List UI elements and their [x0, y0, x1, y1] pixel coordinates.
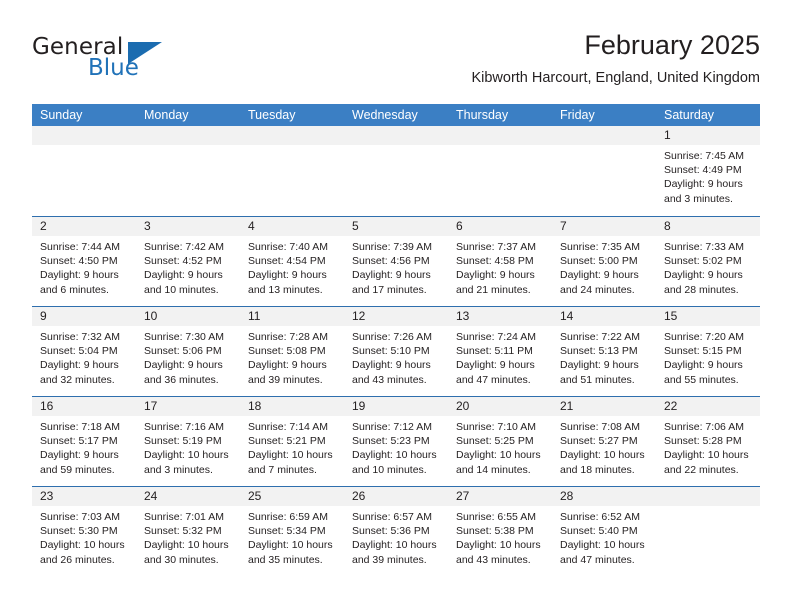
calendar-day-cell[interactable]: 17Sunrise: 7:16 AMSunset: 5:19 PMDayligh…: [136, 397, 240, 486]
sunrise-text: Sunrise: 7:24 AM: [456, 330, 546, 344]
day-sun-info: Sunrise: 7:28 AMSunset: 5:08 PMDaylight:…: [240, 326, 344, 387]
day-sun-info: Sunrise: 7:16 AMSunset: 5:19 PMDaylight:…: [136, 416, 240, 477]
calendar-day-cell[interactable]: 24Sunrise: 7:01 AMSunset: 5:32 PMDayligh…: [136, 487, 240, 576]
day-number: [656, 487, 760, 506]
day-sun-info: Sunrise: 7:45 AMSunset: 4:49 PMDaylight:…: [656, 145, 760, 206]
sunrise-text: Sunrise: 7:35 AM: [560, 240, 650, 254]
sunset-text: Sunset: 4:49 PM: [664, 163, 754, 177]
day-sun-info: Sunrise: 7:42 AMSunset: 4:52 PMDaylight:…: [136, 236, 240, 297]
daylight-text: Daylight: 9 hours and 17 minutes.: [352, 268, 442, 296]
sunset-text: Sunset: 5:11 PM: [456, 344, 546, 358]
daylight-text: Daylight: 10 hours and 10 minutes.: [352, 448, 442, 476]
day-number: [32, 126, 136, 145]
sunset-text: Sunset: 5:06 PM: [144, 344, 234, 358]
weekday-header-tuesday: Tuesday: [240, 104, 344, 126]
sunrise-text: Sunrise: 7:20 AM: [664, 330, 754, 344]
sunset-text: Sunset: 5:34 PM: [248, 524, 338, 538]
sunset-text: Sunset: 5:08 PM: [248, 344, 338, 358]
calendar-day-cell[interactable]: 21Sunrise: 7:08 AMSunset: 5:27 PMDayligh…: [552, 397, 656, 486]
calendar-day-cell[interactable]: 7Sunrise: 7:35 AMSunset: 5:00 PMDaylight…: [552, 217, 656, 306]
daylight-text: Daylight: 9 hours and 10 minutes.: [144, 268, 234, 296]
day-number: [136, 126, 240, 145]
calendar-week-row: 16Sunrise: 7:18 AMSunset: 5:17 PMDayligh…: [32, 396, 760, 486]
day-number: 3: [136, 217, 240, 236]
day-sun-info: Sunrise: 7:32 AMSunset: 5:04 PMDaylight:…: [32, 326, 136, 387]
sunset-text: Sunset: 5:36 PM: [352, 524, 442, 538]
calendar-day-cell[interactable]: 2Sunrise: 7:44 AMSunset: 4:50 PMDaylight…: [32, 217, 136, 306]
day-number: 18: [240, 397, 344, 416]
calendar-page: General Blue February 2025 Kibworth Harc…: [0, 0, 792, 612]
page-subtitle: Kibworth Harcourt, England, United Kingd…: [471, 69, 760, 87]
weekday-header-row: Sunday Monday Tuesday Wednesday Thursday…: [32, 104, 760, 126]
day-number: 11: [240, 307, 344, 326]
day-sun-info: Sunrise: 7:14 AMSunset: 5:21 PMDaylight:…: [240, 416, 344, 477]
daylight-text: Daylight: 9 hours and 51 minutes.: [560, 358, 650, 386]
daylight-text: Daylight: 9 hours and 13 minutes.: [248, 268, 338, 296]
calendar-day-cell-empty: [656, 487, 760, 576]
day-sun-info: Sunrise: 7:20 AMSunset: 5:15 PMDaylight:…: [656, 326, 760, 387]
sunrise-text: Sunrise: 7:18 AM: [40, 420, 130, 434]
sunset-text: Sunset: 5:21 PM: [248, 434, 338, 448]
day-sun-info: Sunrise: 7:22 AMSunset: 5:13 PMDaylight:…: [552, 326, 656, 387]
day-number: 13: [448, 307, 552, 326]
calendar-week-row: 2Sunrise: 7:44 AMSunset: 4:50 PMDaylight…: [32, 216, 760, 306]
sunset-text: Sunset: 4:54 PM: [248, 254, 338, 268]
day-number: 12: [344, 307, 448, 326]
sunrise-text: Sunrise: 7:01 AM: [144, 510, 234, 524]
calendar-day-cell[interactable]: 23Sunrise: 7:03 AMSunset: 5:30 PMDayligh…: [32, 487, 136, 576]
daylight-text: Daylight: 10 hours and 47 minutes.: [560, 538, 650, 566]
calendar-day-cell-empty: [344, 126, 448, 216]
calendar-day-cell[interactable]: 26Sunrise: 6:57 AMSunset: 5:36 PMDayligh…: [344, 487, 448, 576]
day-sun-info: Sunrise: 7:39 AMSunset: 4:56 PMDaylight:…: [344, 236, 448, 297]
sunrise-text: Sunrise: 6:55 AM: [456, 510, 546, 524]
sunrise-text: Sunrise: 7:12 AM: [352, 420, 442, 434]
daylight-text: Daylight: 10 hours and 26 minutes.: [40, 538, 130, 566]
calendar-day-cell[interactable]: 11Sunrise: 7:28 AMSunset: 5:08 PMDayligh…: [240, 307, 344, 396]
day-number: 9: [32, 307, 136, 326]
weekday-header-friday: Friday: [552, 104, 656, 126]
daylight-text: Daylight: 9 hours and 3 minutes.: [664, 177, 754, 205]
sunrise-text: Sunrise: 7:44 AM: [40, 240, 130, 254]
brand-name-blue: Blue: [88, 55, 139, 81]
sunrise-text: Sunrise: 7:16 AM: [144, 420, 234, 434]
day-number: 5: [344, 217, 448, 236]
sunset-text: Sunset: 4:50 PM: [40, 254, 130, 268]
day-number: 17: [136, 397, 240, 416]
sunrise-text: Sunrise: 7:32 AM: [40, 330, 130, 344]
calendar-week-row: 9Sunrise: 7:32 AMSunset: 5:04 PMDaylight…: [32, 306, 760, 396]
day-number: 20: [448, 397, 552, 416]
day-sun-info: Sunrise: 7:26 AMSunset: 5:10 PMDaylight:…: [344, 326, 448, 387]
sunset-text: Sunset: 5:19 PM: [144, 434, 234, 448]
calendar-day-cell[interactable]: 13Sunrise: 7:24 AMSunset: 5:11 PMDayligh…: [448, 307, 552, 396]
daylight-text: Daylight: 9 hours and 6 minutes.: [40, 268, 130, 296]
sunset-text: Sunset: 4:52 PM: [144, 254, 234, 268]
sunrise-text: Sunrise: 7:03 AM: [40, 510, 130, 524]
sunrise-text: Sunrise: 6:59 AM: [248, 510, 338, 524]
day-sun-info: Sunrise: 7:01 AMSunset: 5:32 PMDaylight:…: [136, 506, 240, 567]
sunset-text: Sunset: 5:17 PM: [40, 434, 130, 448]
daylight-text: Daylight: 9 hours and 59 minutes.: [40, 448, 130, 476]
day-number: 1: [656, 126, 760, 145]
calendar-day-cell[interactable]: 20Sunrise: 7:10 AMSunset: 5:25 PMDayligh…: [448, 397, 552, 486]
day-number: 8: [656, 217, 760, 236]
sunrise-text: Sunrise: 7:42 AM: [144, 240, 234, 254]
calendar-day-cell[interactable]: 4Sunrise: 7:40 AMSunset: 4:54 PMDaylight…: [240, 217, 344, 306]
calendar-day-cell[interactable]: 5Sunrise: 7:39 AMSunset: 4:56 PMDaylight…: [344, 217, 448, 306]
calendar-day-cell[interactable]: 1Sunrise: 7:45 AMSunset: 4:49 PMDaylight…: [656, 126, 760, 216]
weekday-header-sunday: Sunday: [32, 104, 136, 126]
sunrise-text: Sunrise: 7:40 AM: [248, 240, 338, 254]
daylight-text: Daylight: 10 hours and 39 minutes.: [352, 538, 442, 566]
daylight-text: Daylight: 9 hours and 28 minutes.: [664, 268, 754, 296]
sunrise-text: Sunrise: 7:39 AM: [352, 240, 442, 254]
daylight-text: Daylight: 9 hours and 43 minutes.: [352, 358, 442, 386]
weekday-header-saturday: Saturday: [656, 104, 760, 126]
day-sun-info: Sunrise: 6:59 AMSunset: 5:34 PMDaylight:…: [240, 506, 344, 567]
day-number: 2: [32, 217, 136, 236]
sunrise-text: Sunrise: 7:08 AM: [560, 420, 650, 434]
day-sun-info: Sunrise: 7:37 AMSunset: 4:58 PMDaylight:…: [448, 236, 552, 297]
sunset-text: Sunset: 5:28 PM: [664, 434, 754, 448]
calendar-day-cell[interactable]: 8Sunrise: 7:33 AMSunset: 5:02 PMDaylight…: [656, 217, 760, 306]
day-number: 21: [552, 397, 656, 416]
sunset-text: Sunset: 5:30 PM: [40, 524, 130, 538]
daylight-text: Daylight: 10 hours and 35 minutes.: [248, 538, 338, 566]
daylight-text: Daylight: 9 hours and 36 minutes.: [144, 358, 234, 386]
sunset-text: Sunset: 4:56 PM: [352, 254, 442, 268]
day-number: [240, 126, 344, 145]
day-number: 14: [552, 307, 656, 326]
day-number: 24: [136, 487, 240, 506]
calendar-week-row: 1Sunrise: 7:45 AMSunset: 4:49 PMDaylight…: [32, 126, 760, 216]
day-number: [448, 126, 552, 145]
calendar-day-cell-empty: [448, 126, 552, 216]
calendar-day-cell[interactable]: 6Sunrise: 7:37 AMSunset: 4:58 PMDaylight…: [448, 217, 552, 306]
daylight-text: Daylight: 9 hours and 39 minutes.: [248, 358, 338, 386]
day-sun-info: Sunrise: 7:08 AMSunset: 5:27 PMDaylight:…: [552, 416, 656, 477]
daylight-text: Daylight: 10 hours and 7 minutes.: [248, 448, 338, 476]
day-number: 4: [240, 217, 344, 236]
day-number: 25: [240, 487, 344, 506]
sunset-text: Sunset: 5:32 PM: [144, 524, 234, 538]
day-sun-info: Sunrise: 6:55 AMSunset: 5:38 PMDaylight:…: [448, 506, 552, 567]
calendar-weeks: 1Sunrise: 7:45 AMSunset: 4:49 PMDaylight…: [32, 126, 760, 576]
calendar-day-cell[interactable]: 28Sunrise: 6:52 AMSunset: 5:40 PMDayligh…: [552, 487, 656, 576]
day-number: 7: [552, 217, 656, 236]
sunset-text: Sunset: 4:58 PM: [456, 254, 546, 268]
calendar-day-cell-empty: [552, 126, 656, 216]
day-sun-info: Sunrise: 7:35 AMSunset: 5:00 PMDaylight:…: [552, 236, 656, 297]
calendar-day-cell[interactable]: 15Sunrise: 7:20 AMSunset: 5:15 PMDayligh…: [656, 307, 760, 396]
daylight-text: Daylight: 10 hours and 30 minutes.: [144, 538, 234, 566]
sunrise-text: Sunrise: 7:06 AM: [664, 420, 754, 434]
weekday-header-wednesday: Wednesday: [344, 104, 448, 126]
day-sun-info: Sunrise: 7:12 AMSunset: 5:23 PMDaylight:…: [344, 416, 448, 477]
calendar-grid: Sunday Monday Tuesday Wednesday Thursday…: [32, 104, 760, 576]
daylight-text: Daylight: 10 hours and 3 minutes.: [144, 448, 234, 476]
day-number: 26: [344, 487, 448, 506]
calendar-day-cell-empty: [240, 126, 344, 216]
brand-logo[interactable]: General Blue: [32, 34, 172, 90]
daylight-text: Daylight: 10 hours and 14 minutes.: [456, 448, 546, 476]
calendar-day-cell[interactable]: 27Sunrise: 6:55 AMSunset: 5:38 PMDayligh…: [448, 487, 552, 576]
day-number: 10: [136, 307, 240, 326]
day-sun-info: Sunrise: 7:33 AMSunset: 5:02 PMDaylight:…: [656, 236, 760, 297]
calendar-day-cell-empty: [32, 126, 136, 216]
page-header: General Blue February 2025 Kibworth Harc…: [32, 28, 760, 94]
sunset-text: Sunset: 5:10 PM: [352, 344, 442, 358]
weekday-header-thursday: Thursday: [448, 104, 552, 126]
weekday-header-monday: Monday: [136, 104, 240, 126]
sunrise-text: Sunrise: 7:22 AM: [560, 330, 650, 344]
sunrise-text: Sunrise: 7:33 AM: [664, 240, 754, 254]
sunrise-text: Sunrise: 7:26 AM: [352, 330, 442, 344]
daylight-text: Daylight: 10 hours and 18 minutes.: [560, 448, 650, 476]
sunset-text: Sunset: 5:38 PM: [456, 524, 546, 538]
sunrise-text: Sunrise: 6:52 AM: [560, 510, 650, 524]
day-number: 27: [448, 487, 552, 506]
daylight-text: Daylight: 9 hours and 21 minutes.: [456, 268, 546, 296]
day-sun-info: Sunrise: 7:10 AMSunset: 5:25 PMDaylight:…: [448, 416, 552, 477]
sunset-text: Sunset: 5:23 PM: [352, 434, 442, 448]
sunset-text: Sunset: 5:00 PM: [560, 254, 650, 268]
page-title: February 2025: [471, 28, 760, 62]
calendar-day-cell[interactable]: 19Sunrise: 7:12 AMSunset: 5:23 PMDayligh…: [344, 397, 448, 486]
sunset-text: Sunset: 5:15 PM: [664, 344, 754, 358]
day-number: 23: [32, 487, 136, 506]
sunset-text: Sunset: 5:40 PM: [560, 524, 650, 538]
daylight-text: Daylight: 9 hours and 55 minutes.: [664, 358, 754, 386]
day-sun-info: Sunrise: 7:18 AMSunset: 5:17 PMDaylight:…: [32, 416, 136, 477]
day-number: [552, 126, 656, 145]
day-sun-info: Sunrise: 7:40 AMSunset: 4:54 PMDaylight:…: [240, 236, 344, 297]
calendar-day-cell[interactable]: 14Sunrise: 7:22 AMSunset: 5:13 PMDayligh…: [552, 307, 656, 396]
calendar-day-cell[interactable]: 10Sunrise: 7:30 AMSunset: 5:06 PMDayligh…: [136, 307, 240, 396]
day-number: [344, 126, 448, 145]
calendar-day-cell[interactable]: 9Sunrise: 7:32 AMSunset: 5:04 PMDaylight…: [32, 307, 136, 396]
daylight-text: Daylight: 9 hours and 47 minutes.: [456, 358, 546, 386]
calendar-day-cell[interactable]: 3Sunrise: 7:42 AMSunset: 4:52 PMDaylight…: [136, 217, 240, 306]
sunrise-text: Sunrise: 7:45 AM: [664, 149, 754, 163]
day-sun-info: Sunrise: 6:52 AMSunset: 5:40 PMDaylight:…: [552, 506, 656, 567]
sunrise-text: Sunrise: 7:37 AM: [456, 240, 546, 254]
calendar-day-cell[interactable]: 18Sunrise: 7:14 AMSunset: 5:21 PMDayligh…: [240, 397, 344, 486]
sunset-text: Sunset: 5:27 PM: [560, 434, 650, 448]
daylight-text: Daylight: 9 hours and 32 minutes.: [40, 358, 130, 386]
daylight-text: Daylight: 10 hours and 22 minutes.: [664, 448, 754, 476]
day-number: 15: [656, 307, 760, 326]
sunrise-text: Sunrise: 7:30 AM: [144, 330, 234, 344]
day-sun-info: Sunrise: 7:24 AMSunset: 5:11 PMDaylight:…: [448, 326, 552, 387]
calendar-day-cell[interactable]: 12Sunrise: 7:26 AMSunset: 5:10 PMDayligh…: [344, 307, 448, 396]
calendar-day-cell[interactable]: 16Sunrise: 7:18 AMSunset: 5:17 PMDayligh…: [32, 397, 136, 486]
sunset-text: Sunset: 5:13 PM: [560, 344, 650, 358]
day-number: 19: [344, 397, 448, 416]
sunrise-text: Sunrise: 7:28 AM: [248, 330, 338, 344]
day-sun-info: Sunrise: 7:30 AMSunset: 5:06 PMDaylight:…: [136, 326, 240, 387]
day-sun-info: Sunrise: 7:03 AMSunset: 5:30 PMDaylight:…: [32, 506, 136, 567]
day-sun-info: Sunrise: 7:06 AMSunset: 5:28 PMDaylight:…: [656, 416, 760, 477]
sunset-text: Sunset: 5:02 PM: [664, 254, 754, 268]
calendar-week-row: 23Sunrise: 7:03 AMSunset: 5:30 PMDayligh…: [32, 486, 760, 576]
calendar-day-cell[interactable]: 22Sunrise: 7:06 AMSunset: 5:28 PMDayligh…: [656, 397, 760, 486]
day-number: 22: [656, 397, 760, 416]
day-number: 28: [552, 487, 656, 506]
daylight-text: Daylight: 10 hours and 43 minutes.: [456, 538, 546, 566]
calendar-day-cell[interactable]: 25Sunrise: 6:59 AMSunset: 5:34 PMDayligh…: [240, 487, 344, 576]
day-sun-info: Sunrise: 6:57 AMSunset: 5:36 PMDaylight:…: [344, 506, 448, 567]
title-block: February 2025 Kibworth Harcourt, England…: [471, 28, 760, 87]
daylight-text: Daylight: 9 hours and 24 minutes.: [560, 268, 650, 296]
calendar-day-cell-empty: [136, 126, 240, 216]
day-number: 6: [448, 217, 552, 236]
sunrise-text: Sunrise: 7:10 AM: [456, 420, 546, 434]
sunrise-text: Sunrise: 7:14 AM: [248, 420, 338, 434]
day-sun-info: Sunrise: 7:44 AMSunset: 4:50 PMDaylight:…: [32, 236, 136, 297]
day-number: 16: [32, 397, 136, 416]
sunset-text: Sunset: 5:25 PM: [456, 434, 546, 448]
sunset-text: Sunset: 5:04 PM: [40, 344, 130, 358]
sunrise-text: Sunrise: 6:57 AM: [352, 510, 442, 524]
